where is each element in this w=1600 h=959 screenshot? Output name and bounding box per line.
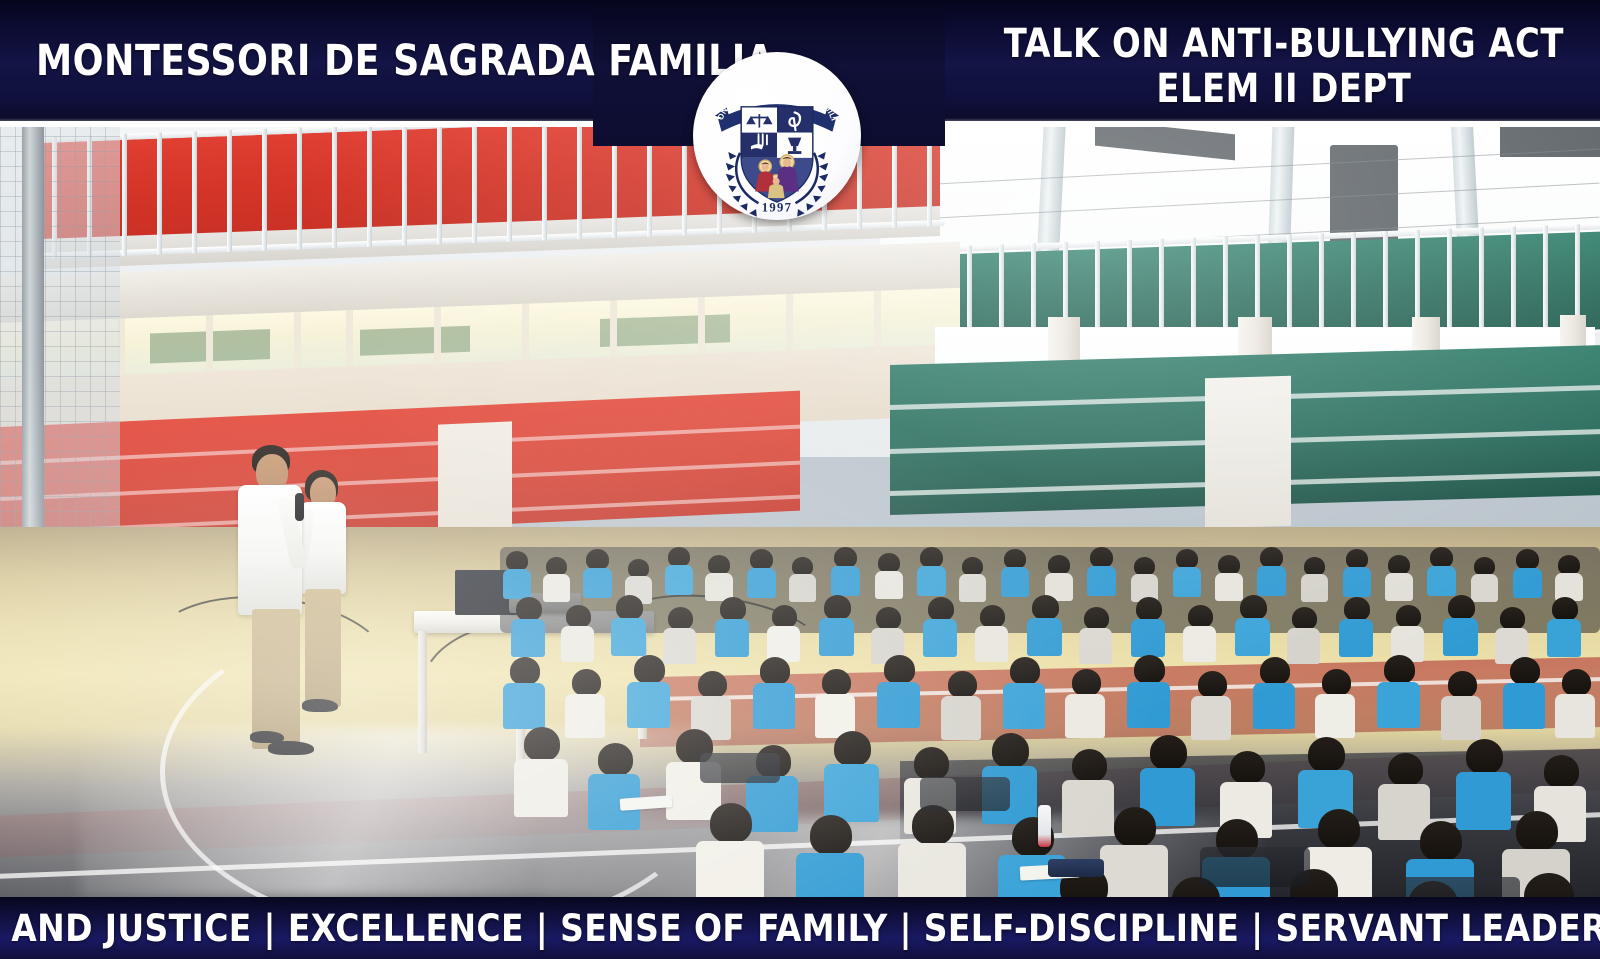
student-lap-shadow [700,753,780,783]
event-photo [0,127,1600,897]
event-poster: MONTESSORI DE SAGRADA FAMILIA TALK ON AN… [0,0,1600,959]
event-title-line2: ELEM II DEPT [1004,67,1564,112]
core-values-text: LOVE AND JUSTICE | EXCELLENCE | SENSE OF… [0,907,1600,950]
student-lap-shadow [1200,847,1310,887]
volleyball-net [0,127,120,557]
microphone [295,493,304,521]
pencil-case [1048,859,1104,877]
bleacher-stairs-right [1205,376,1291,528]
school-seal-graphic: MONTESSORI DE SAGRADA FAMILIA [693,52,861,220]
event-title-line1: TALK ON ANTI-BULLYING ACT [1004,21,1564,67]
student-audience [500,547,1600,897]
student-lap-shadow [920,777,1010,811]
table-leg [418,631,427,753]
event-title: TALK ON ANTI-BULLYING ACT ELEM II DEPT [1004,22,1564,112]
seal-year: 1997 [762,201,793,215]
water-bottle [1038,805,1051,847]
student-lap-shadow [1400,877,1520,897]
footer-bar: LOVE AND JUSTICE | EXCELLENCE | SENSE OF… [0,897,1600,959]
school-name-title: MONTESSORI DE SAGRADA FAMILIA [36,36,774,86]
school-logo: MONTESSORI DE SAGRADA FAMILIA [693,52,861,220]
handout-paper [620,795,673,811]
